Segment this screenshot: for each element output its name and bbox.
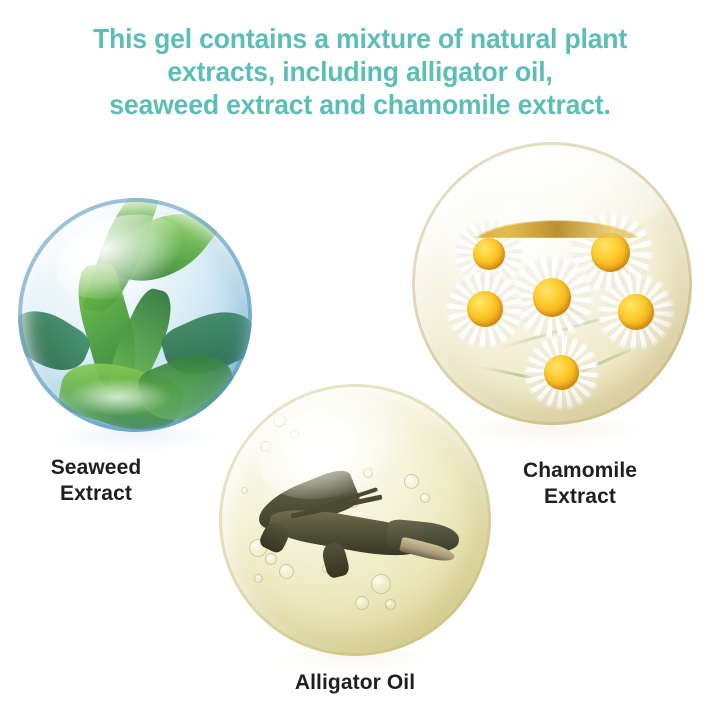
- label-alligator-oil: Alligator Oil: [215, 670, 495, 696]
- seaweed-sphere-rim: [18, 198, 252, 432]
- chamomile-extract-sphere: [412, 142, 692, 425]
- alligator-oil-sphere: [219, 384, 491, 656]
- chamomile-sphere-rim: [412, 142, 692, 425]
- seaweed-extract-sphere: [18, 198, 252, 432]
- page-title: This gel contains a mixture of natural p…: [18, 22, 702, 121]
- alligator-sphere-rim: [219, 384, 491, 656]
- label-seaweed-extract: Seaweed Extract: [0, 455, 192, 507]
- infographic-canvas: This gel contains a mixture of natural p…: [0, 0, 720, 719]
- label-chamomile-extract: Chamomile Extract: [480, 458, 680, 510]
